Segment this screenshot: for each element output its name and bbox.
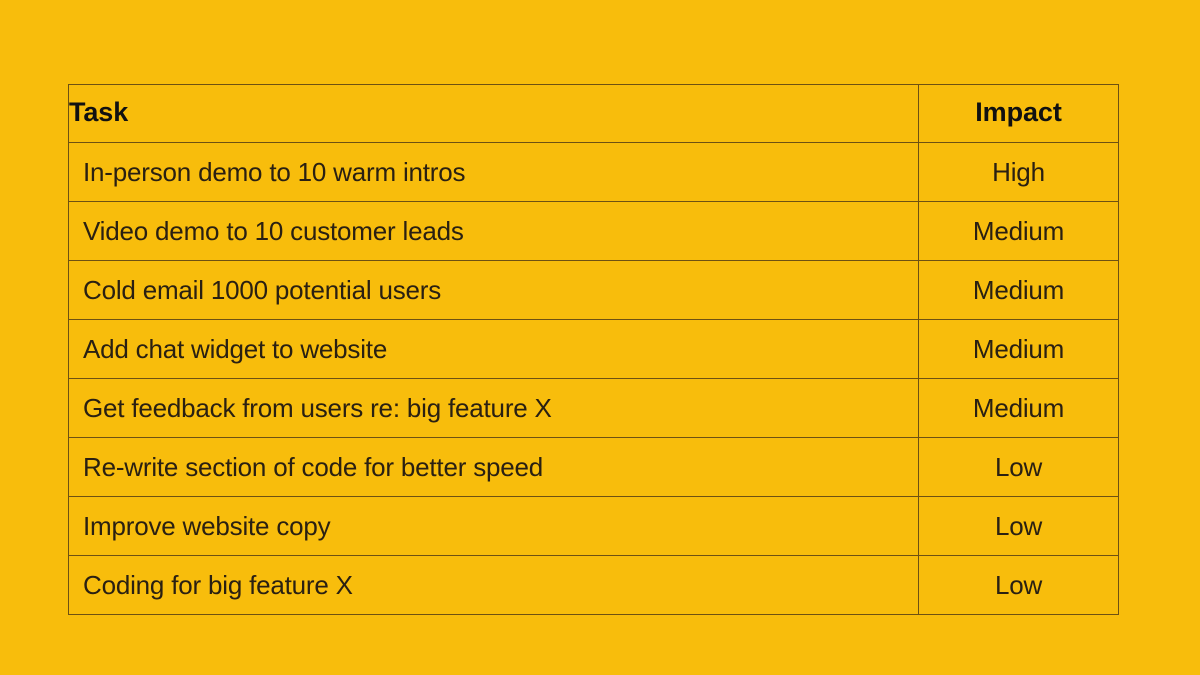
cell-impact: Low [919, 438, 1119, 497]
table-header: Task Impact [69, 85, 1119, 143]
cell-task: Improve website copy [69, 497, 919, 556]
table-row[interactable]: Improve website copyLow [69, 497, 1119, 556]
cell-task: Video demo to 10 customer leads [69, 202, 919, 261]
table-row[interactable]: Coding for big feature XLow [69, 556, 1119, 615]
slide-canvas: Task Impact In-person demo to 10 warm in… [0, 0, 1200, 675]
cell-task: In-person demo to 10 warm intros [69, 143, 919, 202]
cell-impact: Medium [919, 320, 1119, 379]
cell-task: Cold email 1000 potential users [69, 261, 919, 320]
cell-impact: Medium [919, 379, 1119, 438]
cell-impact: Medium [919, 261, 1119, 320]
cell-impact: Low [919, 497, 1119, 556]
table-row[interactable]: Get feedback from users re: big feature … [69, 379, 1119, 438]
column-header-task: Task [69, 85, 919, 143]
table-row[interactable]: Cold email 1000 potential usersMedium [69, 261, 1119, 320]
table-header-row: Task Impact [69, 85, 1119, 143]
column-header-impact: Impact [919, 85, 1119, 143]
task-impact-table: Task Impact In-person demo to 10 warm in… [68, 84, 1119, 615]
table-row[interactable]: Re-write section of code for better spee… [69, 438, 1119, 497]
table-row[interactable]: Video demo to 10 customer leadsMedium [69, 202, 1119, 261]
table-row[interactable]: In-person demo to 10 warm introsHigh [69, 143, 1119, 202]
cell-task: Re-write section of code for better spee… [69, 438, 919, 497]
cell-impact: Low [919, 556, 1119, 615]
table-body: In-person demo to 10 warm introsHighVide… [69, 143, 1119, 615]
cell-task: Get feedback from users re: big feature … [69, 379, 919, 438]
table-row[interactable]: Add chat widget to websiteMedium [69, 320, 1119, 379]
cell-task: Coding for big feature X [69, 556, 919, 615]
cell-task: Add chat widget to website [69, 320, 919, 379]
cell-impact: High [919, 143, 1119, 202]
cell-impact: Medium [919, 202, 1119, 261]
